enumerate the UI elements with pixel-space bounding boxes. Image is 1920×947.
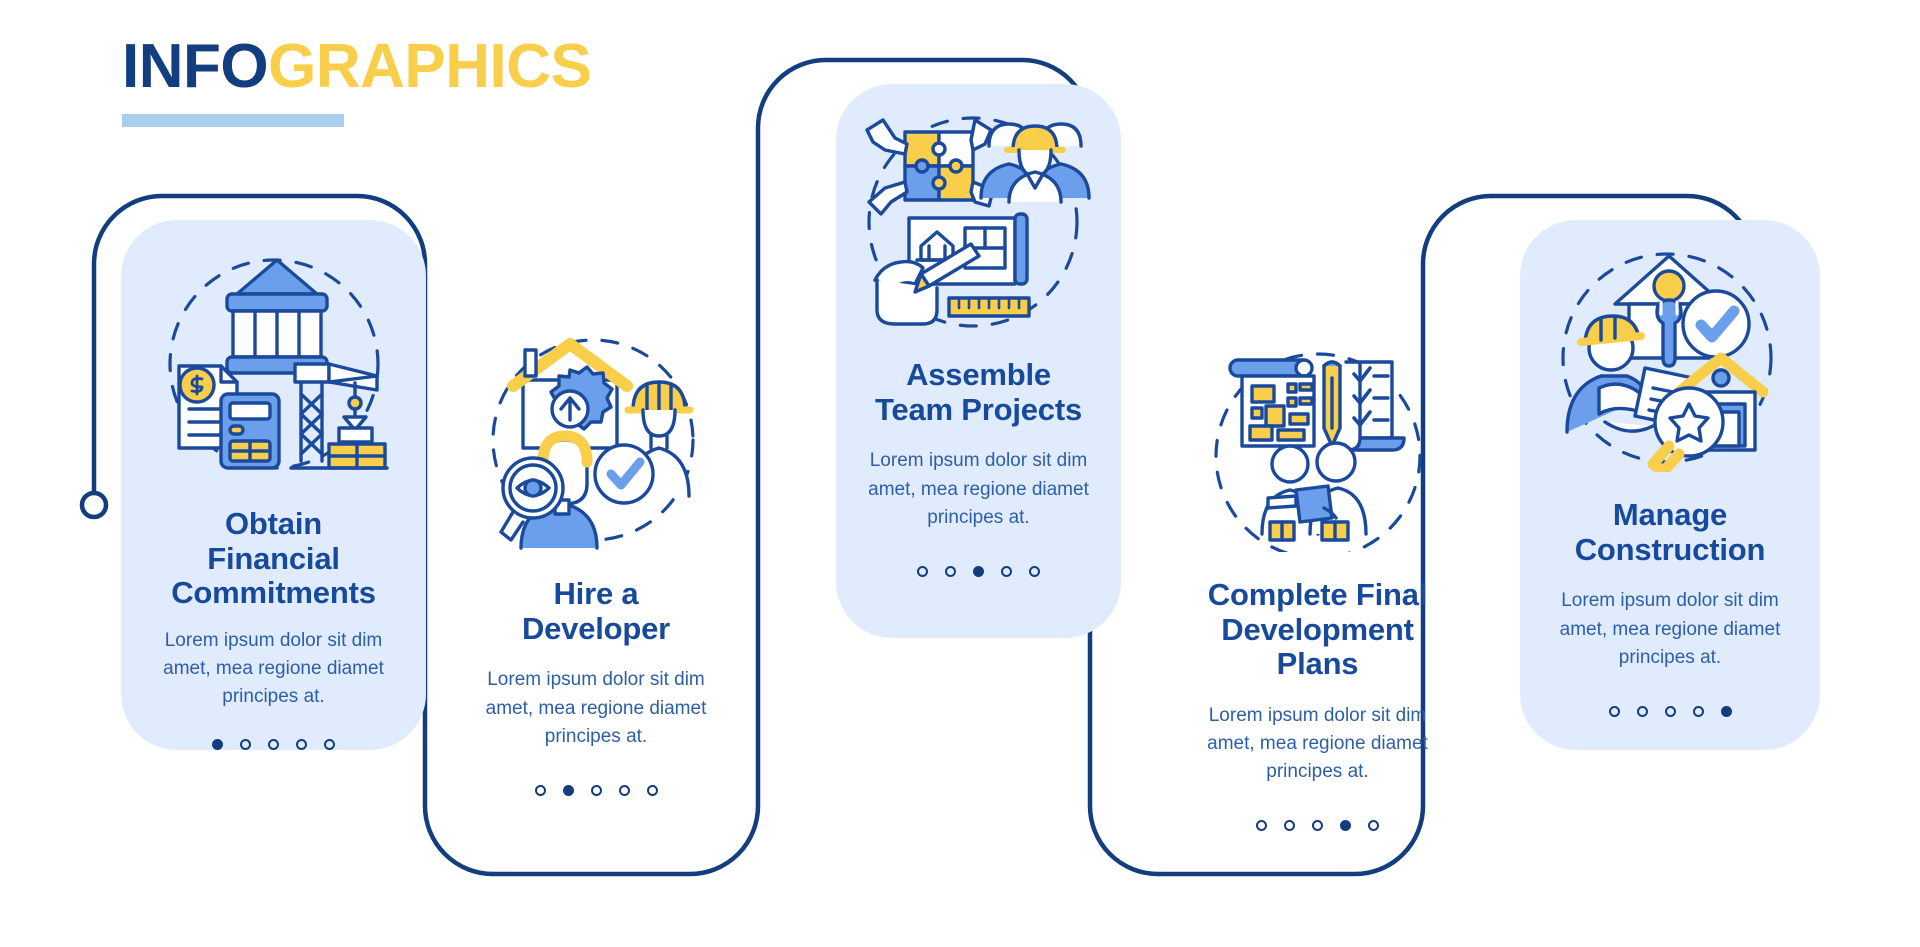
step-dot[interactable]	[296, 739, 307, 750]
step-dot[interactable]	[619, 785, 630, 796]
card-description: Lorem ipsum dolor sit dim amet, mea regi…	[1542, 587, 1798, 671]
card-title: Assemble Team Projects	[875, 358, 1082, 427]
card-title-line: Plans	[1208, 647, 1427, 682]
card-description: Lorem ipsum dolor sit dim amet, mea regi…	[858, 447, 1099, 531]
step-dot[interactable]	[945, 566, 956, 577]
step-dot[interactable]	[1029, 566, 1040, 577]
step-dot[interactable]	[591, 785, 602, 796]
step-card-obtain-financial-commitments[interactable]: Obtain Financial Commitments Lorem ipsum…	[121, 220, 426, 750]
step-dot[interactable]	[1368, 820, 1379, 831]
step-dot[interactable]	[647, 785, 658, 796]
step-dots-indicator[interactable]	[212, 739, 335, 750]
step-dot[interactable]	[1001, 566, 1012, 577]
step-dot[interactable]	[563, 785, 574, 796]
step-dot[interactable]	[1256, 820, 1267, 831]
step-card-manage-construction[interactable]: Manage Construction Lorem ipsum dolor si…	[1520, 220, 1820, 750]
card-title: Manage Construction	[1575, 498, 1765, 567]
step-dot[interactable]	[1665, 706, 1676, 717]
card-title-line: Development	[1208, 613, 1427, 648]
step-dot[interactable]	[1340, 820, 1351, 831]
step-dot[interactable]	[535, 785, 546, 796]
step-card-hire-a-developer[interactable]: Hire a Developer Lorem ipsum dolor sit d…	[441, 310, 751, 870]
page-header: INFOGRAPHICS	[122, 36, 591, 127]
step-dot[interactable]	[324, 739, 335, 750]
step-dot[interactable]	[212, 739, 223, 750]
card-title-line: Manage	[1575, 498, 1765, 533]
bank-finance-crane-icon	[143, 246, 404, 486]
blueprint-checklist-people-icon	[1187, 344, 1448, 552]
step-dots-indicator[interactable]	[1609, 706, 1732, 717]
step-dot[interactable]	[268, 739, 279, 750]
card-title: Complete Final Development Plans	[1208, 578, 1427, 682]
card-title-line: Financial	[171, 542, 376, 577]
title-part-graphics: GRAPHICS	[268, 32, 591, 101]
card-title-line: Hire a	[522, 577, 670, 612]
step-dots-indicator[interactable]	[1256, 820, 1379, 831]
card-title-line: Developer	[522, 612, 670, 647]
infographic-canvas: INFOGRAPHICS	[0, 0, 1920, 947]
inspector-house-quality-icon	[1542, 246, 1798, 472]
title-underline-rule	[122, 114, 344, 127]
step-dot[interactable]	[917, 566, 928, 577]
path-start-endpoint	[82, 493, 106, 517]
house-gear-worker-search-icon	[463, 336, 729, 551]
step-dot[interactable]	[1609, 706, 1620, 717]
title-part-info: INFO	[122, 32, 268, 101]
step-dots-indicator[interactable]	[535, 785, 658, 796]
card-title: Hire a Developer	[522, 577, 670, 646]
card-description: Lorem ipsum dolor sit dim amet, mea regi…	[463, 666, 729, 750]
card-title-line: Construction	[1575, 533, 1765, 568]
step-dot[interactable]	[1312, 820, 1323, 831]
card-title-line: Assemble	[875, 358, 1082, 393]
card-title-line: Obtain	[171, 507, 376, 542]
step-dot[interactable]	[1637, 706, 1648, 717]
card-title-line: Team Projects	[875, 393, 1082, 428]
page-title: INFOGRAPHICS	[122, 36, 591, 98]
step-card-complete-final-development-plans[interactable]: Complete Final Development Plans Lorem i…	[1165, 318, 1470, 870]
step-dot[interactable]	[973, 566, 984, 577]
card-description: Lorem ipsum dolor sit dim amet, mea regi…	[1187, 702, 1448, 786]
step-dot[interactable]	[1284, 820, 1295, 831]
puzzle-team-blueprint-icon	[858, 110, 1099, 332]
step-dot[interactable]	[240, 739, 251, 750]
step-dot[interactable]	[1693, 706, 1704, 717]
card-title-line: Complete Final	[1208, 578, 1427, 613]
step-card-assemble-team-projects[interactable]: Assemble Team Projects Lorem ipsum dolor…	[836, 84, 1121, 638]
card-title-line: Commitments	[171, 576, 376, 611]
card-title: Obtain Financial Commitments	[171, 507, 376, 611]
step-dots-indicator[interactable]	[917, 566, 1040, 577]
step-dot[interactable]	[1721, 706, 1732, 717]
card-description: Lorem ipsum dolor sit dim amet, mea regi…	[143, 627, 404, 711]
